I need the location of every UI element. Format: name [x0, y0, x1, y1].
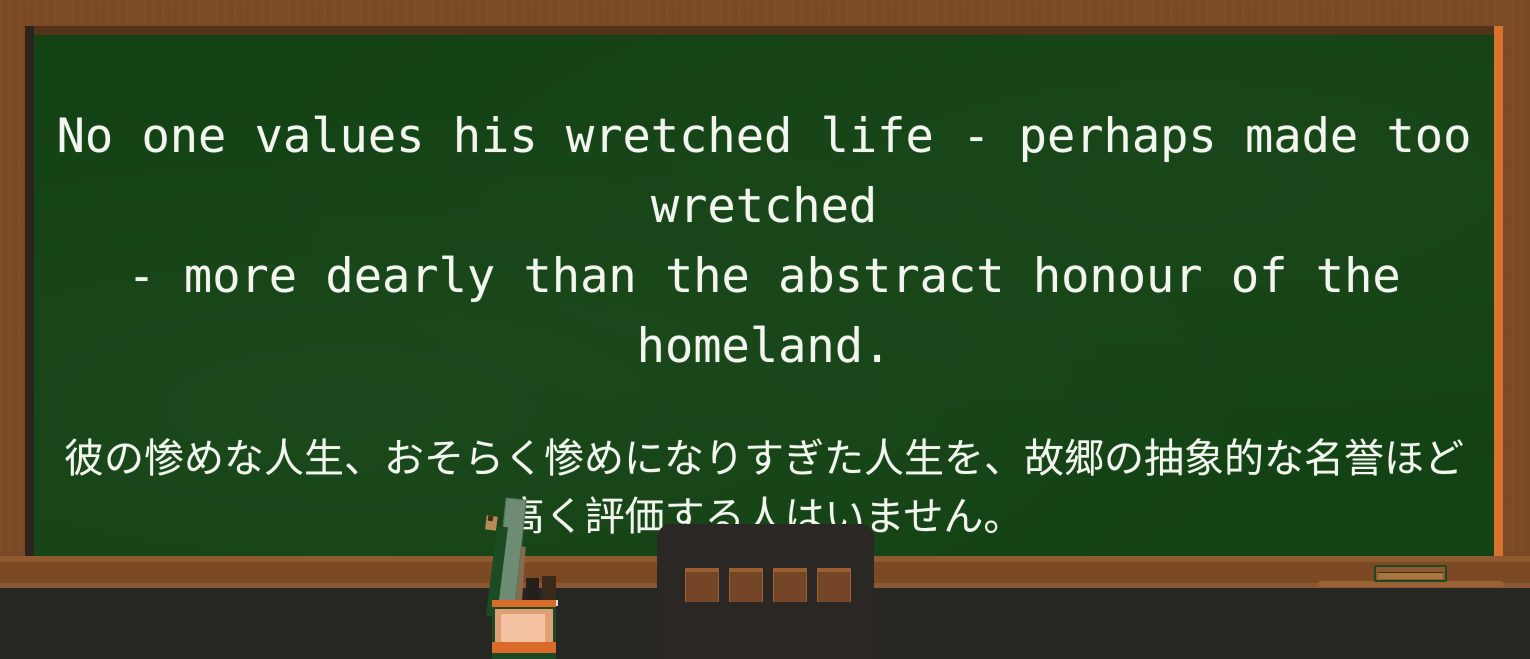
- chair-slat-gap-1: [685, 568, 719, 602]
- board-inner-edge-right: [1494, 26, 1503, 556]
- marker-icon-b: [542, 576, 556, 602]
- pencil-lead: [488, 516, 494, 522]
- eraser-felt: [1378, 572, 1443, 579]
- chair-slat-gap-4: [817, 568, 851, 602]
- pencil-cup-foot: [492, 653, 556, 659]
- chair-back: [657, 524, 874, 659]
- chalkboard-scene: No one values his wretched life - perhap…: [0, 0, 1530, 659]
- chalkboard-surface[interactable]: [25, 26, 1503, 556]
- pencil-cup-rim: [492, 600, 556, 609]
- pencil-cup-group[interactable]: [470, 490, 580, 659]
- marker-icon-a: [526, 578, 539, 602]
- board-inner-edge-top: [25, 26, 1503, 35]
- chair-slat-gap-3: [773, 568, 807, 602]
- board-inner-edge-left: [25, 26, 34, 556]
- chair-slat-gap-2: [729, 568, 763, 602]
- pencil-cup-highlight: [501, 614, 545, 643]
